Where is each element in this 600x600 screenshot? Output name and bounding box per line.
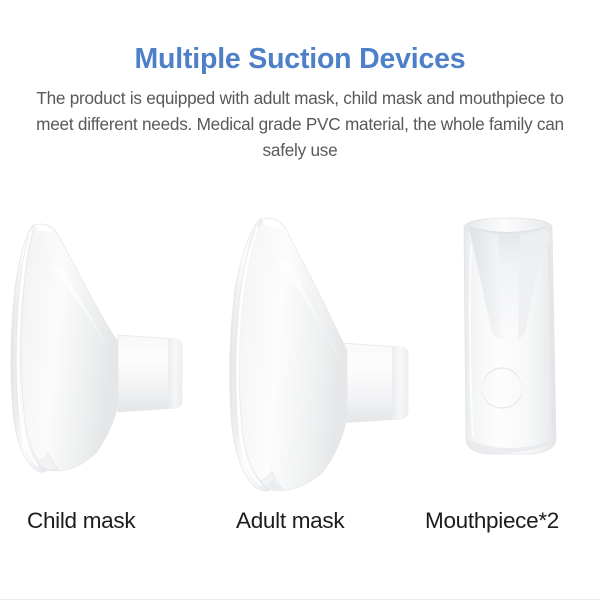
product-infographic-page: Multiple Suction Devices The product is … xyxy=(0,0,600,600)
product-child-mask xyxy=(0,205,200,505)
product-label-child-mask: Child mask xyxy=(27,508,135,534)
product-adult-mask xyxy=(205,205,425,505)
mouthpiece-icon xyxy=(440,205,600,505)
product-label-adult-mask: Adult mask xyxy=(236,508,344,534)
page-subtitle: The product is equipped with adult mask,… xyxy=(35,86,565,163)
adult-mask-icon xyxy=(205,205,425,505)
product-gallery xyxy=(0,205,600,505)
product-label-mouthpiece: Mouthpiece*2 xyxy=(425,508,559,534)
product-mouthpiece xyxy=(440,205,600,505)
header: Multiple Suction Devices The product is … xyxy=(0,44,600,164)
child-mask-connector-cap xyxy=(168,338,182,409)
product-labels: Child mask Adult mask Mouthpiece*2 xyxy=(0,508,600,548)
child-mask-body xyxy=(20,224,118,471)
adult-mask-body xyxy=(238,218,347,490)
adult-mask-connector-cap xyxy=(392,346,408,420)
child-mask-icon xyxy=(0,205,200,505)
page-title: Multiple Suction Devices xyxy=(0,44,600,75)
